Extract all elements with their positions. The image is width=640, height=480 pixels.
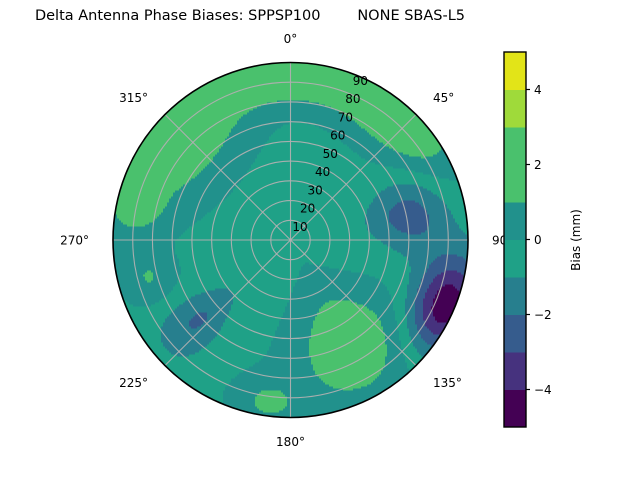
colorbar-tick-label: 2 [534,158,542,172]
colorbar-band [504,240,526,278]
colorbar-band [504,90,526,128]
colorbar-band [504,165,526,203]
colorbar-ticks: −4−2024 [526,83,552,397]
colorbar-band [504,202,526,240]
colorbar-band [504,127,526,165]
colorbar-bands [504,52,526,427]
colorbar-band [504,352,526,390]
colorbar-band [504,52,526,90]
colorbar-band [504,277,526,315]
colorbar-band [504,390,526,428]
colorbar-tick-label: −4 [534,383,552,397]
colorbar-band [504,315,526,353]
colorbar-tick-label: 0 [534,233,542,247]
colorbar-tick-label: −2 [534,308,552,322]
colorbar-tick-label: 4 [534,83,542,97]
colorbar: −4−2024 [0,0,640,480]
colorbar-axis-label: Bias (mm) [569,209,583,271]
figure-canvas: Delta Antenna Phase Biases: SPPSP100 NON… [0,0,640,480]
